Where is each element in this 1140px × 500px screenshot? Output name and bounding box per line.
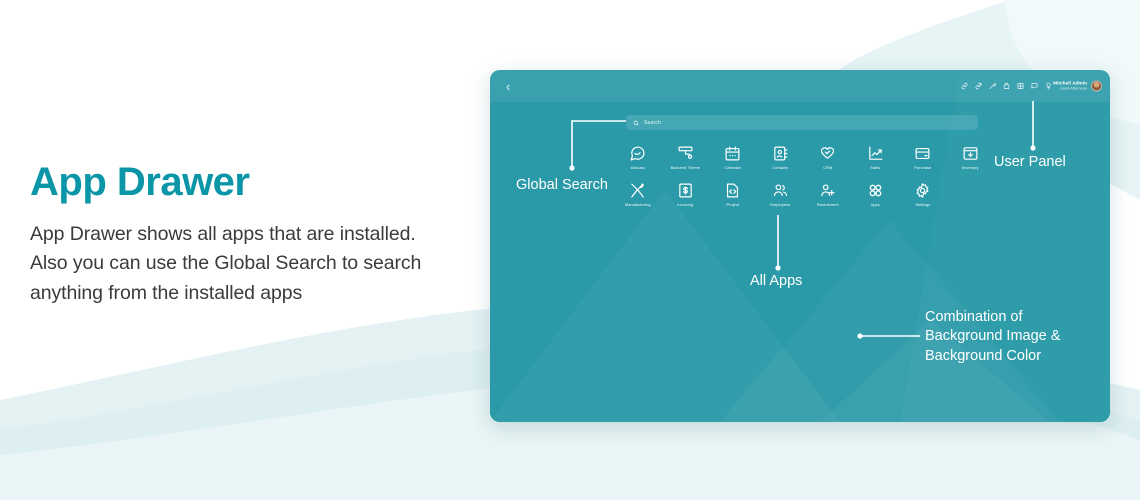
app-label: Inventory — [962, 165, 979, 170]
page-title: App Drawer — [30, 160, 430, 204]
app-label: Calendar — [725, 165, 741, 170]
app-label: Apps — [871, 202, 880, 207]
app-label: Contacts — [772, 165, 788, 170]
manufacturing-icon — [629, 182, 646, 199]
app-label: Purchase — [914, 165, 931, 170]
app-label: Invoicing — [677, 202, 693, 207]
invoicing-icon — [677, 182, 694, 199]
app-item-recruitment[interactable]: Recruitment — [804, 182, 852, 207]
app-label: Backend Theme — [671, 165, 700, 170]
app-label: Discuss — [631, 165, 645, 170]
annotation-label-line3: Background Color — [925, 347, 1060, 366]
app-label: Employees — [770, 202, 790, 207]
backend-theme-icon — [677, 145, 694, 162]
app-label: CRM — [823, 165, 832, 170]
app-item-apps[interactable]: Apps — [852, 182, 900, 207]
app-item-discuss[interactable]: Discuss — [614, 145, 662, 170]
link-icon[interactable] — [961, 83, 968, 90]
app-item-crm[interactable]: CRM — [804, 145, 852, 170]
app-item-employees[interactable]: Employees — [757, 182, 805, 207]
app-grid: Discuss Backend Theme Calendar Contacts — [614, 145, 994, 207]
annotation-label-line1: Combination of — [925, 308, 1060, 327]
app-item-purchase[interactable]: Purchase — [899, 145, 947, 170]
back-chevron-icon[interactable]: ‹ — [506, 80, 510, 93]
wrench-icon[interactable] — [989, 83, 996, 90]
annotation-combination: Combination of Background Image & Backgr… — [925, 308, 1060, 366]
annotation-label: Global Search — [516, 176, 608, 195]
avatar[interactable] — [1091, 81, 1102, 92]
search-placeholder: Search — [644, 120, 661, 126]
app-item-sales[interactable]: Sales — [852, 145, 900, 170]
user-panel[interactable]: Mitchell Admin Good Afternoon — [1053, 81, 1102, 92]
calendar-icon — [724, 145, 741, 162]
annotation-label: All Apps — [750, 272, 802, 291]
purchase-icon — [914, 145, 931, 162]
app-label: Manufacturing — [625, 202, 651, 207]
link-badge-icon[interactable] — [975, 83, 982, 90]
inventory-icon — [962, 145, 979, 162]
app-item-project[interactable]: Project — [709, 182, 757, 207]
annotation-global-search: Global Search — [516, 176, 608, 195]
app-label: Settings — [915, 202, 930, 207]
app-label: Recruitment — [817, 202, 839, 207]
search-input[interactable]: Search — [626, 115, 978, 130]
app-item-backend-theme[interactable]: Backend Theme — [662, 145, 710, 170]
app-label: Project — [726, 202, 739, 207]
app-drawer-panel: ‹ Mitch — [490, 70, 1110, 422]
search-icon — [633, 120, 639, 126]
project-icon — [724, 182, 741, 199]
contacts-icon — [772, 145, 789, 162]
app-item-contacts[interactable]: Contacts — [757, 145, 805, 170]
annotation-user-panel: User Panel — [994, 153, 1066, 172]
annotation-label: User Panel — [994, 153, 1066, 172]
apps-icon — [867, 182, 884, 199]
app-label: Sales — [870, 165, 880, 170]
message-icon[interactable] — [1031, 83, 1038, 90]
user-text: Mitchell Admin Good Afternoon — [1053, 81, 1087, 92]
user-greeting: Good Afternoon — [1053, 86, 1087, 91]
bulb-icon[interactable] — [1045, 83, 1052, 90]
app-item-calendar[interactable]: Calendar — [709, 145, 757, 170]
grid-icon[interactable] — [1017, 83, 1024, 90]
app-item-inventory[interactable]: Inventory — [947, 145, 995, 170]
discuss-icon — [629, 145, 646, 162]
page-description: App Drawer shows all apps that are insta… — [30, 220, 430, 308]
sales-icon — [867, 145, 884, 162]
intro-copy: App Drawer App Drawer shows all apps tha… — [30, 160, 430, 308]
crm-icon — [819, 145, 836, 162]
bag-icon[interactable] — [1003, 83, 1010, 90]
app-item-settings[interactable]: Settings — [899, 182, 947, 207]
settings-icon — [914, 182, 931, 199]
app-item-manufacturing[interactable]: Manufacturing — [614, 182, 662, 207]
panel-header: ‹ Mitch — [490, 70, 1110, 102]
annotation-all-apps: All Apps — [750, 272, 802, 291]
employees-icon — [772, 182, 789, 199]
system-icon-tray — [961, 83, 1052, 90]
annotation-label-line2: Background Image & — [925, 327, 1060, 346]
recruitment-icon — [819, 182, 836, 199]
app-item-invoicing[interactable]: Invoicing — [662, 182, 710, 207]
